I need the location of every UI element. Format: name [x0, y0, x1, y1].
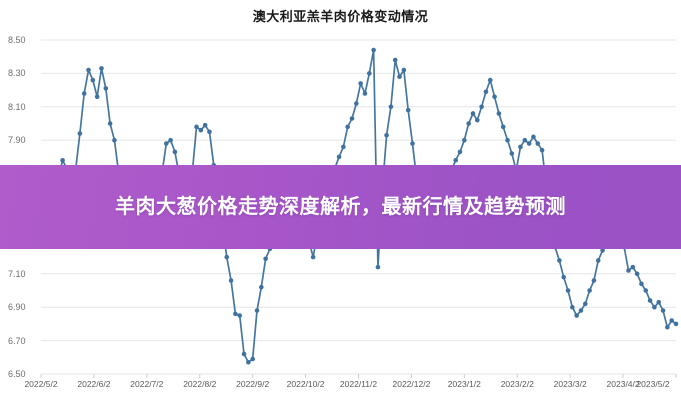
- data-point: [471, 111, 476, 116]
- data-point: [497, 111, 502, 116]
- data-point: [350, 116, 355, 121]
- data-point: [592, 278, 597, 283]
- y-axis-tick-8.50: 8.50: [8, 35, 26, 45]
- x-axis-tick-2023/5/2: 2023/5/2: [636, 379, 669, 389]
- y-axis-tick-6.50: 6.50: [8, 369, 26, 379]
- x-axis-tick-2022/12/2: 2022/12/2: [392, 379, 430, 389]
- data-point: [540, 148, 545, 153]
- data-point: [91, 78, 96, 83]
- data-point: [367, 71, 372, 76]
- data-point: [168, 138, 173, 143]
- data-point: [531, 135, 536, 140]
- data-point: [626, 268, 631, 273]
- data-point: [523, 138, 528, 143]
- data-point: [229, 278, 234, 283]
- data-point: [341, 145, 346, 150]
- data-point: [99, 66, 104, 71]
- chart-x-gridlines: [41, 374, 676, 378]
- data-point: [233, 312, 238, 317]
- data-point: [596, 258, 601, 263]
- data-point: [656, 300, 661, 305]
- y-axis-tick-8.30: 8.30: [8, 68, 26, 78]
- data-point: [242, 352, 247, 357]
- data-point: [358, 81, 363, 86]
- data-point: [410, 141, 415, 146]
- data-point: [643, 288, 648, 293]
- data-point: [112, 138, 117, 143]
- data-point: [406, 108, 411, 113]
- y-axis-tick-6.90: 6.90: [8, 302, 26, 312]
- data-point: [82, 91, 87, 96]
- data-point: [492, 94, 497, 99]
- data-point: [652, 305, 657, 310]
- data-point: [479, 105, 484, 110]
- data-point: [384, 133, 389, 138]
- data-point: [570, 305, 575, 310]
- data-point: [458, 150, 463, 155]
- data-point: [246, 360, 251, 365]
- data-point: [535, 141, 540, 146]
- x-axis-tick-2022/6/2: 2022/6/2: [77, 379, 110, 389]
- data-point: [199, 128, 204, 133]
- data-point: [363, 91, 368, 96]
- data-point: [194, 125, 199, 130]
- data-point: [484, 89, 489, 94]
- data-point: [393, 58, 398, 63]
- data-point: [255, 308, 260, 313]
- x-axis-tick-2022/10/2: 2022/10/2: [287, 379, 325, 389]
- data-point: [337, 155, 342, 160]
- data-point: [207, 130, 212, 135]
- data-point: [259, 285, 264, 290]
- data-point: [557, 258, 562, 263]
- x-axis-tick-2023/2/2: 2023/2/2: [501, 379, 534, 389]
- y-axis-tick-7.10: 7.10: [8, 269, 26, 279]
- data-point: [250, 357, 255, 362]
- data-point: [579, 308, 584, 313]
- data-point: [453, 158, 458, 163]
- data-point: [95, 94, 100, 99]
- data-point: [505, 138, 510, 143]
- data-point: [466, 121, 471, 126]
- overlay-headline-text: 羊肉大葱价格走势深度解析，最新行情及趋势预测: [115, 194, 566, 221]
- data-point: [527, 141, 532, 146]
- data-point: [376, 265, 381, 270]
- screenshot-root: 澳大利亚羔羊肉价格变动情况 8.508.308.107.907.707.507.…: [0, 0, 681, 400]
- data-point: [518, 145, 523, 150]
- x-axis-tick-2023/4/2: 2023/4/2: [607, 379, 640, 389]
- data-point: [674, 322, 679, 327]
- x-axis-tick-2022/9/2: 2022/9/2: [236, 379, 269, 389]
- data-point: [173, 150, 178, 155]
- data-point: [311, 255, 316, 260]
- data-point: [104, 86, 109, 91]
- y-axis-tick-7.90: 7.90: [8, 135, 26, 145]
- data-point: [574, 313, 579, 318]
- data-point: [661, 308, 666, 313]
- data-point: [371, 48, 376, 53]
- data-point: [78, 131, 83, 136]
- data-point: [164, 141, 169, 146]
- data-point: [566, 288, 571, 293]
- x-axis-tick-2023/1/2: 2023/1/2: [448, 379, 481, 389]
- data-point: [203, 123, 208, 128]
- data-point: [561, 275, 566, 280]
- data-point: [263, 256, 268, 261]
- data-point: [488, 78, 493, 83]
- data-point: [583, 302, 588, 307]
- x-axis-tick-2022/7/2: 2022/7/2: [130, 379, 163, 389]
- y-axis-tick-8.10: 8.10: [8, 102, 26, 112]
- data-point: [389, 105, 394, 110]
- x-axis-tick-2022/11/2: 2022/11/2: [340, 379, 377, 389]
- y-axis-tick-6.70: 6.70: [8, 336, 26, 346]
- data-point: [665, 325, 670, 330]
- data-point: [648, 298, 653, 303]
- data-point: [108, 121, 113, 126]
- data-point: [587, 288, 592, 293]
- x-axis-tick-2023/3/2: 2023/3/2: [554, 379, 587, 389]
- data-point: [224, 255, 229, 260]
- data-point: [635, 272, 640, 277]
- data-point: [345, 125, 350, 130]
- x-axis-tick-2022/5/2: 2022/5/2: [24, 379, 57, 389]
- data-point: [402, 68, 407, 73]
- data-point: [639, 282, 644, 287]
- data-point: [397, 74, 402, 79]
- data-point: [60, 158, 65, 163]
- data-point: [462, 138, 467, 143]
- data-point: [631, 265, 636, 270]
- x-axis-tick-2022/8/2: 2022/8/2: [183, 379, 216, 389]
- data-point: [86, 68, 91, 73]
- data-point: [501, 125, 506, 130]
- overlay-headline-banner: 羊肉大葱价格走势深度解析，最新行情及趋势预测: [0, 165, 681, 249]
- data-point: [669, 318, 674, 323]
- data-point: [354, 101, 359, 106]
- data-point: [510, 151, 515, 156]
- data-point: [237, 313, 242, 318]
- data-point: [475, 118, 480, 123]
